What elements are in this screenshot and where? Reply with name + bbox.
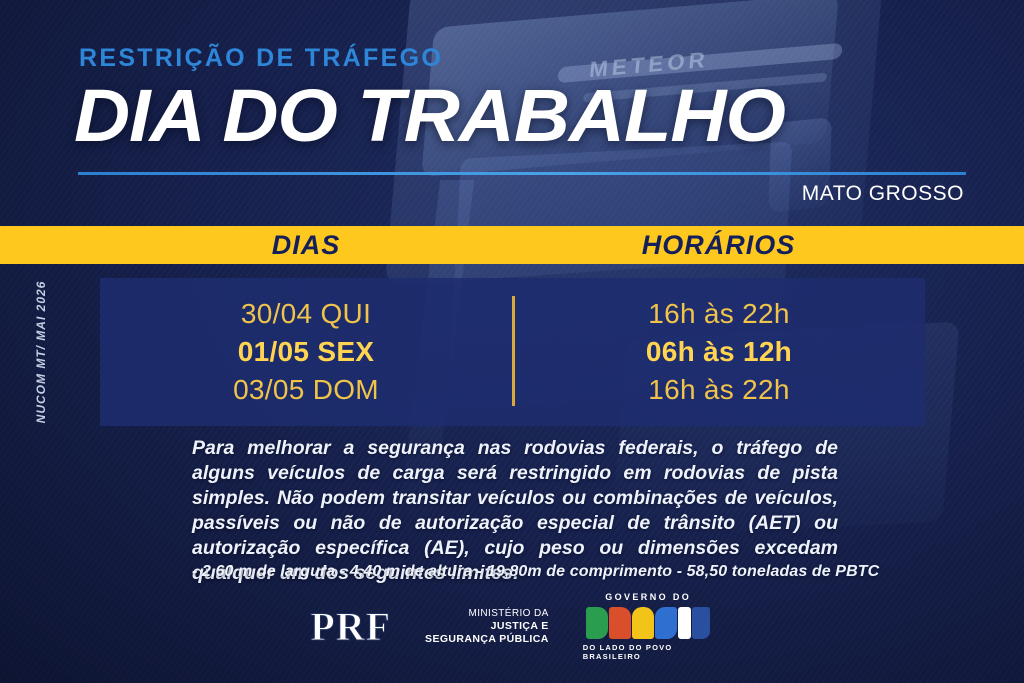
brasil-letter-b xyxy=(586,607,608,639)
brasil-wordmark xyxy=(586,605,710,639)
page-title: DIA DO TRABALHO xyxy=(74,79,785,153)
poster-canvas: METEOR RESTRIÇÃO DE TRÁFEGO DIA DO TRABA… xyxy=(0,0,1024,683)
prf-logo: PRF xyxy=(310,603,391,650)
hours-column: 16h às 22h 06h às 12h 16h às 22h xyxy=(513,296,925,408)
brasil-letter-a xyxy=(632,607,654,639)
government-top-label: GOVERNO DO xyxy=(605,592,691,602)
table-row: 30/04 QUI xyxy=(241,296,371,332)
table-row: 16h às 22h xyxy=(648,372,790,408)
title-underline xyxy=(78,172,966,175)
days-column: 30/04 QUI 01/05 SEX 03/05 DOM xyxy=(100,296,512,408)
limits-line: - 2,60 m de largura - 4,40 m de altura -… xyxy=(192,563,842,581)
credit-text: NUCOM MT/ MAI 2026 xyxy=(34,277,48,427)
ministry-logo: MINISTÉRIO DA JUSTIÇA E SEGURANÇA PÚBLIC… xyxy=(425,607,549,646)
column-header-days: DIAS xyxy=(100,226,512,264)
table-row: 01/05 SEX xyxy=(238,334,375,370)
brasil-letter-s xyxy=(655,607,677,639)
table-row: 03/05 DOM xyxy=(233,372,379,408)
footer-logos: PRF MINISTÉRIO DA JUSTIÇA E SEGURANÇA PÚ… xyxy=(0,592,1024,661)
brasil-letter-l xyxy=(692,607,710,639)
table-row: 16h às 22h xyxy=(648,296,790,332)
government-logo: GOVERNO DO DO LADO DO POVO BRASILEIRO xyxy=(583,592,714,661)
brasil-letter-r xyxy=(609,607,631,639)
government-tagline: DO LADO DO POVO BRASILEIRO xyxy=(583,643,714,661)
column-header-hours: HORÁRIOS xyxy=(512,226,925,264)
ministry-line-3: SEGURANÇA PÚBLICA xyxy=(425,633,549,646)
ministry-line-2: JUSTIÇA E xyxy=(425,620,549,633)
brasil-letter-i xyxy=(678,607,691,639)
kicker-text: RESTRIÇÃO DE TRÁFEGO xyxy=(79,44,443,73)
table-row: 06h às 12h xyxy=(646,334,792,370)
table-header-band: DIAS HORÁRIOS xyxy=(0,226,1024,264)
state-label: MATO GROSSO xyxy=(802,182,964,206)
ministry-line-1: MINISTÉRIO DA xyxy=(425,607,549,620)
